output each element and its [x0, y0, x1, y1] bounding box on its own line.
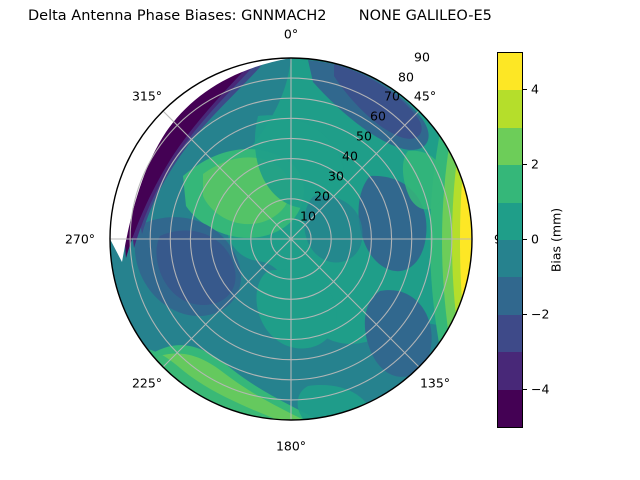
- r-tick-40[interactable]: 40: [342, 149, 358, 164]
- colorbar-band-2: [498, 315, 522, 352]
- polar-skyplot-axes[interactable]: 0° 45° 90 135° 180° 225° 270° 315° 10 20…: [108, 56, 474, 422]
- colorbar-ticklabel-4: 4: [531, 82, 539, 97]
- theta-tick-225[interactable]: 225°: [132, 376, 162, 391]
- page-title: Delta Antenna Phase Biases: GNNMACH2 NON…: [28, 6, 492, 26]
- r-tick-10[interactable]: 10: [300, 209, 316, 224]
- polar-grid: [110, 58, 472, 420]
- colorbar-tick-4: [523, 89, 527, 90]
- r-tick-30[interactable]: 30: [328, 169, 344, 184]
- colorbar-band-9: [498, 53, 522, 90]
- theta-tick-270[interactable]: 270°: [65, 232, 95, 247]
- theta-tick-180[interactable]: 180°: [276, 439, 306, 454]
- colorbar-ticklabel-0: 0: [531, 232, 539, 247]
- colorbar-tick--2: [523, 314, 527, 315]
- contour-field: [110, 58, 480, 422]
- r-tick-50[interactable]: 50: [356, 129, 372, 144]
- r-tick-90[interactable]: 90: [414, 50, 430, 65]
- colorbar-band-8: [498, 90, 522, 127]
- r-tick-60[interactable]: 60: [370, 109, 386, 124]
- theta-tick-315[interactable]: 315°: [132, 89, 162, 104]
- theta-tick-0[interactable]: 0°: [284, 27, 298, 42]
- colorbar-band-4: [498, 240, 522, 277]
- colorbar-ticklabel-2: 2: [531, 157, 539, 172]
- colorbar-tick-2: [523, 164, 527, 165]
- r-tick-70[interactable]: 70: [384, 89, 400, 104]
- colorbar-band-0: [498, 390, 522, 427]
- colorbar-band-5: [498, 203, 522, 240]
- colorbar[interactable]: −4−2024: [497, 52, 523, 428]
- r-tick-20[interactable]: 20: [314, 189, 330, 204]
- colorbar-band-6: [498, 165, 522, 202]
- colorbar-band-3: [498, 277, 522, 314]
- colorbar-band-7: [498, 128, 522, 165]
- theta-tick-45[interactable]: 45°: [414, 89, 436, 104]
- colorbar-ticklabel--4: −4: [531, 381, 549, 396]
- r-tick-80[interactable]: 80: [398, 70, 414, 85]
- colorbar-axis-label: Bias (mm): [549, 208, 564, 272]
- colorbar-tick--4: [523, 389, 527, 390]
- theta-tick-135[interactable]: 135°: [420, 376, 450, 391]
- colorbar-tick-0: [523, 239, 527, 240]
- colorbar-band-1: [498, 352, 522, 389]
- colorbar-gradient: [497, 52, 523, 428]
- polar-plot-canvas: [108, 56, 474, 422]
- colorbar-ticklabel--2: −2: [531, 306, 549, 321]
